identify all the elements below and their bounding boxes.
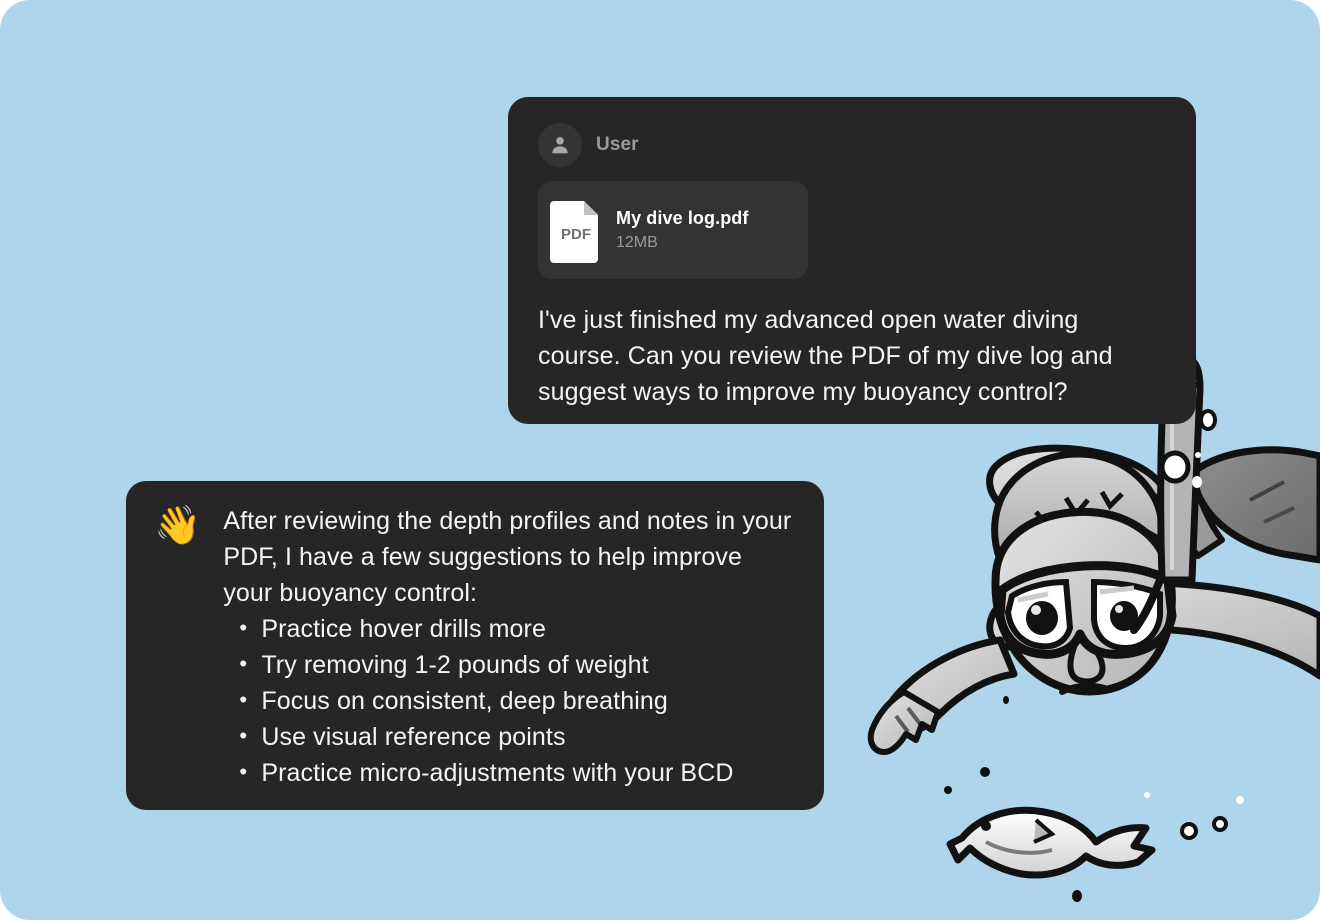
waving-hand-emoji: 👋 [154, 505, 201, 547]
bubbles [944, 387, 1244, 902]
pdf-file-icon: PDF [550, 197, 602, 263]
fish-illustration [950, 810, 1152, 875]
suggestion-list: Practice hover drills more Try removing … [223, 611, 798, 791]
pdf-attachment-card[interactable]: PDF My dive log.pdf 12MB [538, 181, 808, 279]
assistant-intro-paragraph: After reviewing the depth profiles and n… [223, 503, 798, 611]
list-item: Try removing 1-2 pounds of weight [261, 647, 798, 683]
user-message-text: I've just finished my advanced open wate… [538, 302, 1166, 410]
list-item: Practice micro-adjustments with your BCD [261, 755, 798, 791]
attachment-filename: My dive log.pdf [616, 208, 749, 229]
attachment-filesize: 12MB [616, 234, 749, 252]
chat-illustration-canvas: User PDF My dive log.pdf 12MB I've just … [0, 0, 1320, 920]
list-item: Practice hover drills more [261, 611, 798, 647]
user-message-bubble: User PDF My dive log.pdf 12MB I've just … [508, 97, 1196, 424]
avatar [538, 123, 582, 167]
assistant-message-text: After reviewing the depth profiles and n… [223, 503, 798, 791]
list-item: Focus on consistent, deep breathing [261, 683, 798, 719]
svg-text:PDF: PDF [561, 226, 591, 243]
message-author-name: User [596, 134, 639, 156]
assistant-message-body: 👋 After reviewing the depth profiles and… [154, 503, 798, 791]
person-icon [549, 134, 571, 156]
list-item: Use visual reference points [261, 719, 798, 755]
attachment-meta: My dive log.pdf 12MB [616, 208, 749, 252]
user-message-header: User [538, 123, 1166, 167]
assistant-message-bubble: 👋 After reviewing the depth profiles and… [126, 481, 824, 810]
